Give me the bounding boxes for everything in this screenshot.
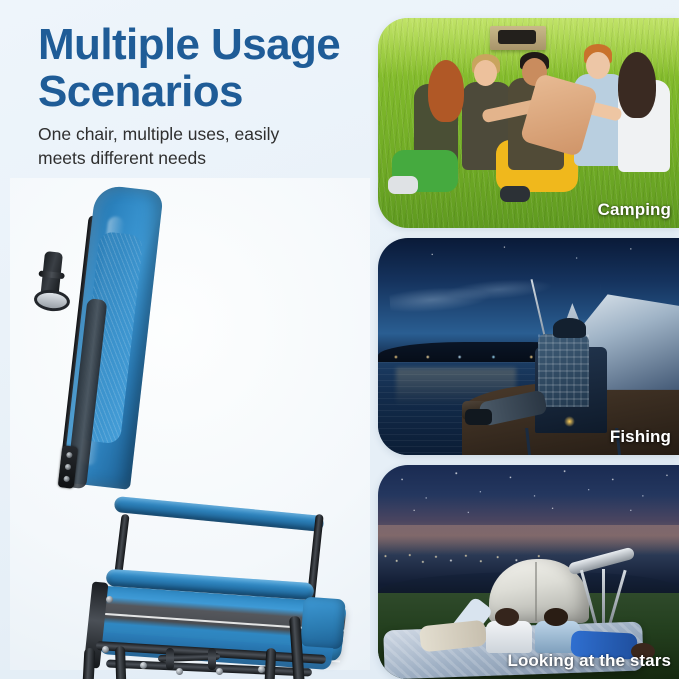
panel-caption-fishing: Fishing	[610, 427, 671, 447]
panel-caption-stars: Looking at the stars	[507, 651, 671, 671]
text-column: Multiple Usage Scenarios One chair, mult…	[0, 0, 380, 679]
plaid-shirt-pattern	[538, 334, 589, 408]
scenario-panel-stars[interactable]: Looking at the stars	[378, 465, 679, 679]
frame-bolt	[140, 662, 147, 669]
armrest-upper	[114, 496, 325, 532]
person-head	[495, 608, 519, 625]
hinge-rivet	[63, 476, 70, 483]
frame-bolt	[258, 666, 265, 673]
person-hair	[618, 52, 656, 118]
boot	[465, 409, 492, 424]
tripod-leg	[580, 569, 599, 631]
stargazing-photo	[378, 465, 679, 679]
cup-holder	[33, 250, 73, 311]
subtitle-line-2: meets different needs	[38, 146, 338, 170]
page-subtitle: One chair, multiple uses, easily meets d…	[38, 122, 338, 170]
headline-line-2: Scenarios	[38, 69, 368, 116]
baseball-cap	[553, 318, 586, 338]
headline-line-1: Multiple Usage	[38, 22, 368, 69]
seat-front-edge	[300, 597, 345, 650]
person-hair	[428, 60, 464, 122]
frame-bolt	[176, 668, 183, 675]
armrest-rear-post	[114, 514, 129, 575]
frame-bolt	[106, 596, 113, 603]
scenario-panel-fishing[interactable]: Fishing	[378, 238, 679, 455]
camping-photo	[378, 18, 679, 228]
rear-leg	[76, 648, 96, 679]
person-head	[586, 52, 610, 79]
marketing-banner: Multiple Usage Scenarios One chair, mult…	[0, 0, 679, 679]
frame-bolt	[102, 646, 109, 653]
product-photo	[10, 178, 370, 670]
scenario-panel-camping[interactable]: Camping	[378, 18, 679, 228]
fishing-photo	[378, 238, 679, 455]
scenario-panels: Camping	[378, 18, 679, 679]
shoe	[388, 176, 418, 194]
camping-chair-illustration	[10, 178, 370, 670]
hinge-rivet	[65, 464, 72, 471]
panel-caption-camping: Camping	[598, 200, 671, 220]
cup-holder-ring	[33, 288, 71, 313]
person-head	[474, 60, 497, 86]
linkage-strut	[166, 648, 174, 670]
person-head	[544, 608, 568, 625]
hinge-rivet	[66, 452, 73, 459]
page-title: Multiple Usage Scenarios	[38, 22, 368, 115]
subtitle-line-1: One chair, multiple uses, easily	[38, 122, 338, 146]
wooden-bench	[490, 26, 546, 50]
telescope	[565, 555, 643, 632]
frame-bolt	[216, 668, 223, 675]
shoe	[500, 186, 530, 202]
campfire-glow	[562, 414, 577, 429]
linkage-strut	[208, 648, 216, 670]
person-lying	[486, 621, 531, 653]
seated-man	[538, 334, 589, 408]
